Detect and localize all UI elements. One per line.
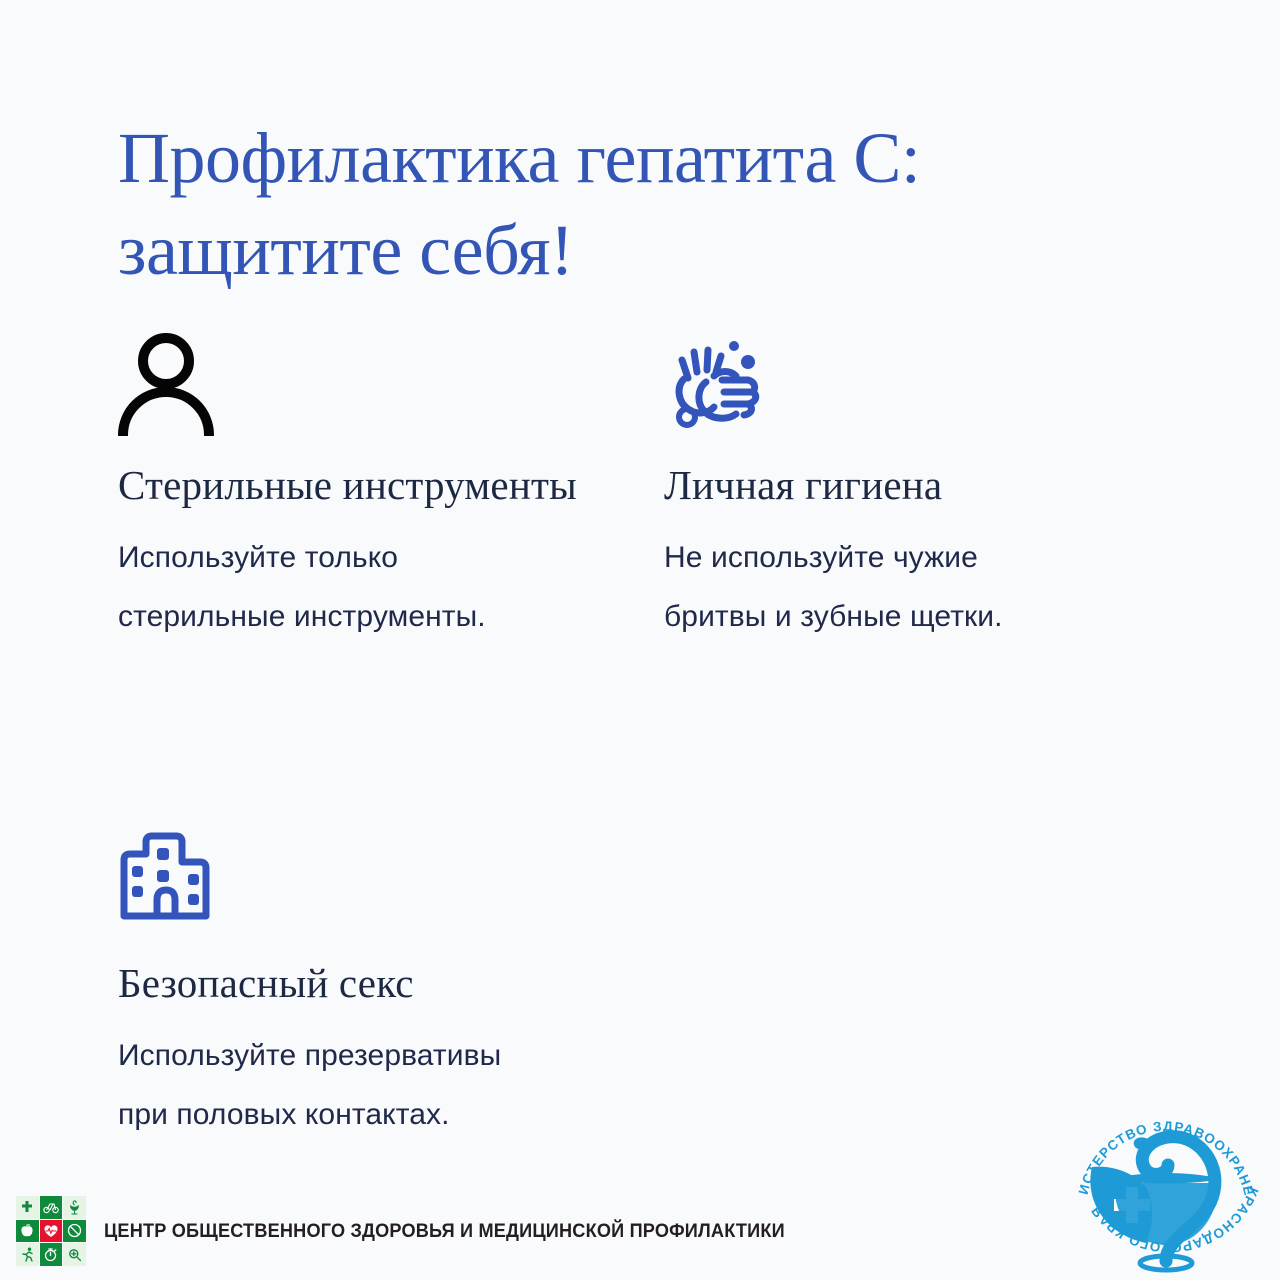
card-personal-hygiene: Личная гигиена Не используйте чужие брит… (664, 332, 1134, 646)
no-smoking-icon (63, 1220, 86, 1243)
card-body-safe-sex: Используйте презервативы при половых кон… (118, 1026, 638, 1144)
card-heading-sterile-instruments: Стерильные инструменты (118, 458, 618, 512)
stopwatch-icon (40, 1243, 63, 1266)
card-body-line-1: Не используйте чужие (664, 528, 1134, 587)
card-heading-personal-hygiene: Личная гигиена (664, 458, 1134, 512)
ministry-logo: МИНИСТЕРСТВО ЗДРАВООХРАНЕНИЯ КРАСНОДАРСК… (1062, 1075, 1270, 1280)
footer-organization: ЦЕНТР ОБЩЕСТВЕННОГО ЗДОРОВЬЯ И МЕДИЦИНСК… (16, 1196, 836, 1266)
card-body-sterile-instruments: Используйте только стерильные инструмент… (118, 528, 618, 646)
card-heading-line-2: инструменты (343, 462, 577, 508)
medical-cross-icon (16, 1196, 39, 1219)
card-heading-safe-sex: Безопасный секс (118, 956, 638, 1010)
card-body-line-2: бритвы и зубные щетки. (664, 587, 1134, 646)
card-body-personal-hygiene: Не используйте чужие бритвы и зубные щет… (664, 528, 1134, 646)
card-heading-line-1: Личная гигиена (664, 462, 942, 508)
runner-icon (16, 1243, 39, 1266)
card-body-line-2: стерильные инструменты. (118, 587, 618, 646)
card-body-line-2: при половых контактах. (118, 1085, 638, 1144)
bicycle-icon (40, 1196, 63, 1219)
card-sterile-instruments: Стерильные инструменты Используйте тольк… (118, 332, 618, 646)
magnifier-icon (63, 1243, 86, 1266)
bowl-of-hygeia-icon (63, 1196, 86, 1219)
handwashing-icon (664, 332, 1134, 436)
card-body-line-1: Используйте только (118, 528, 618, 587)
poster-root: Профилактика гепатита С: защитите себя! … (0, 0, 1280, 1280)
card-heading-line-1: Безопасный секс (118, 960, 414, 1006)
card-body-line-1: Используйте презервативы (118, 1026, 638, 1085)
heart-pulse-icon (40, 1220, 63, 1243)
card-heading-line-1: Стерильные (118, 462, 332, 508)
footer-organization-name: ЦЕНТР ОБЩЕСТВЕННОГО ЗДОРОВЬЯ И МЕДИЦИНСК… (104, 1220, 785, 1243)
page-title: Профилактика гепатита С: защитите себя! (118, 112, 1178, 296)
apple-icon (16, 1220, 39, 1243)
page-title-line-2: защитите себя! (118, 204, 1178, 296)
person-icon (118, 332, 618, 436)
page-title-line-1: Профилактика гепатита С: (118, 112, 1178, 204)
card-safe-sex: Безопасный секс Используйте презервативы… (118, 830, 638, 1144)
cphmp-logo (16, 1196, 86, 1266)
hospital-building-icon (118, 830, 638, 934)
